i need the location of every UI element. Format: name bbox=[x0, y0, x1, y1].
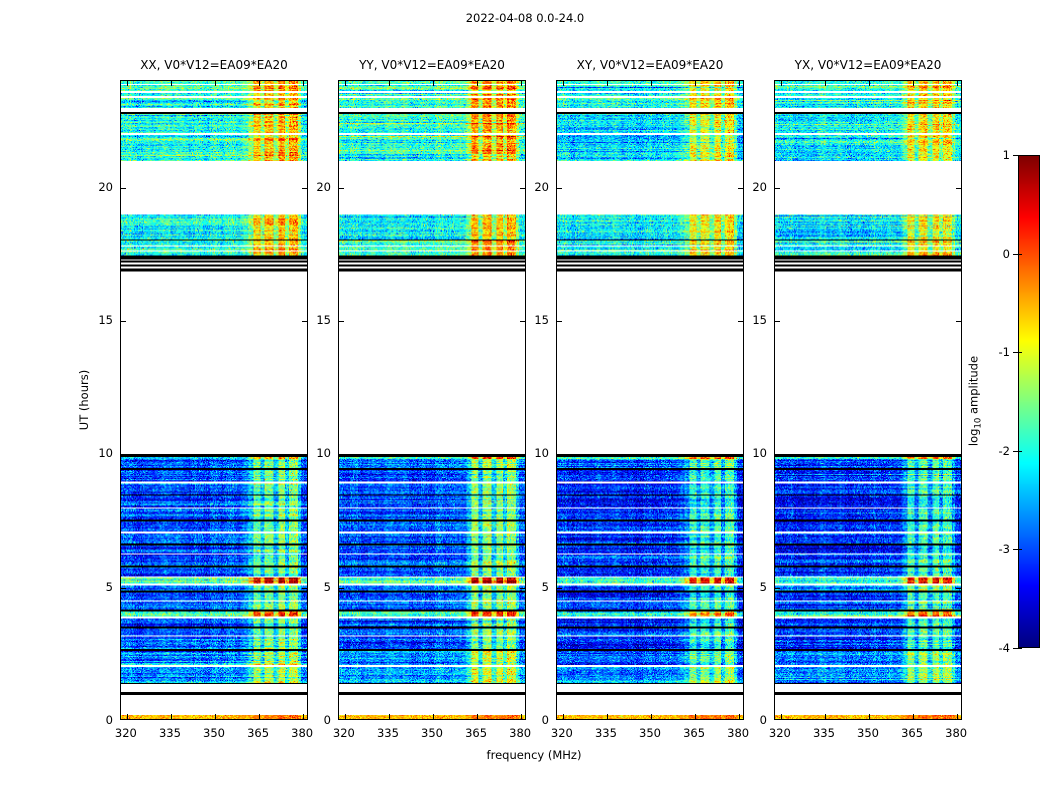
x-tick bbox=[389, 714, 390, 719]
x-tick-label: 320 bbox=[115, 726, 137, 740]
x-tick-label: 380 bbox=[727, 726, 749, 740]
colorbar-tick-inner bbox=[1018, 451, 1022, 452]
image-layer bbox=[775, 81, 961, 719]
y-tick bbox=[339, 588, 344, 589]
x-tick-top bbox=[913, 81, 914, 86]
x-tick-top bbox=[869, 81, 870, 86]
x-tick-top bbox=[651, 81, 652, 86]
image-layer bbox=[121, 81, 307, 719]
panel-title: YX, V0*V12=EA09*EA20 bbox=[734, 58, 1002, 72]
y-tick-label: 5 bbox=[760, 580, 767, 594]
y-tick-right bbox=[520, 321, 525, 322]
x-tick bbox=[215, 714, 216, 719]
x-tick-top bbox=[781, 81, 782, 86]
x-tick bbox=[345, 714, 346, 719]
spectrogram-panel-yx: YX, V0*V12=EA09*EA2005101520320335350365… bbox=[774, 80, 962, 720]
y-tick-label: 20 bbox=[98, 180, 113, 194]
x-tick-label: 365 bbox=[247, 726, 269, 740]
y-tick-right bbox=[302, 321, 307, 322]
spectrogram-image bbox=[121, 81, 307, 719]
x-tick-label: 380 bbox=[945, 726, 967, 740]
x-tick bbox=[913, 714, 914, 719]
y-tick-label: 10 bbox=[752, 446, 767, 460]
y-tick-label: 20 bbox=[316, 180, 331, 194]
colorbar-tick-inner bbox=[1018, 549, 1022, 550]
figure-title: 2022-04-08 0.0-24.0 bbox=[0, 11, 1050, 25]
y-tick-label: 0 bbox=[542, 713, 549, 727]
x-tick-top bbox=[303, 81, 304, 86]
x-tick-top bbox=[259, 81, 260, 86]
x-tick bbox=[869, 714, 870, 719]
x-tick bbox=[477, 714, 478, 719]
x-tick-label: 320 bbox=[769, 726, 791, 740]
x-tick bbox=[127, 714, 128, 719]
y-tick-label: 10 bbox=[98, 446, 113, 460]
x-tick-label: 380 bbox=[291, 726, 313, 740]
x-tick bbox=[607, 714, 608, 719]
x-tick-top bbox=[127, 81, 128, 86]
y-tick-label: 5 bbox=[324, 580, 331, 594]
y-tick bbox=[121, 454, 126, 455]
y-tick-right bbox=[738, 321, 743, 322]
x-tick-top bbox=[695, 81, 696, 86]
y-tick bbox=[339, 188, 344, 189]
colorbar-tick-inner bbox=[1018, 155, 1022, 156]
x-tick-top bbox=[215, 81, 216, 86]
y-tick-label: 20 bbox=[534, 180, 549, 194]
x-tick-label: 380 bbox=[509, 726, 531, 740]
y-tick bbox=[775, 321, 780, 322]
x-tick bbox=[563, 714, 564, 719]
x-tick bbox=[259, 714, 260, 719]
plot-area bbox=[556, 80, 744, 720]
y-tick-label: 15 bbox=[534, 313, 549, 327]
x-tick-top bbox=[607, 81, 608, 86]
y-tick bbox=[557, 321, 562, 322]
plot-area bbox=[338, 80, 526, 720]
y-tick-right bbox=[956, 188, 961, 189]
y-tick bbox=[775, 588, 780, 589]
colorbar-tick-label: 0 bbox=[1003, 247, 1010, 261]
x-tick-label: 335 bbox=[377, 726, 399, 740]
x-tick bbox=[171, 714, 172, 719]
colorbar-tick-inner bbox=[1018, 254, 1022, 255]
x-tick bbox=[825, 714, 826, 719]
x-tick-label: 350 bbox=[203, 726, 225, 740]
plot-area bbox=[120, 80, 308, 720]
colorbar-tick-label: -3 bbox=[999, 542, 1010, 556]
y-tick-right bbox=[738, 588, 743, 589]
colorbar-tick-inner bbox=[1018, 352, 1022, 353]
x-tick-label: 335 bbox=[595, 726, 617, 740]
x-tick-label: 365 bbox=[901, 726, 923, 740]
x-tick-top bbox=[171, 81, 172, 86]
y-tick-label: 15 bbox=[98, 313, 113, 327]
colorbar-canvas bbox=[1019, 156, 1039, 647]
colorbar-tick-label: -1 bbox=[999, 345, 1010, 359]
spectrogram-image bbox=[557, 81, 743, 719]
plot-area bbox=[774, 80, 962, 720]
x-tick-label: 350 bbox=[639, 726, 661, 740]
y-tick-label: 10 bbox=[534, 446, 549, 460]
y-tick-right bbox=[738, 454, 743, 455]
x-tick-label: 320 bbox=[551, 726, 573, 740]
y-tick-label: 15 bbox=[316, 313, 331, 327]
y-tick bbox=[775, 454, 780, 455]
spectrogram-image bbox=[339, 81, 525, 719]
x-tick-top bbox=[521, 81, 522, 86]
y-tick-right bbox=[520, 188, 525, 189]
y-tick bbox=[339, 454, 344, 455]
y-tick-label: 0 bbox=[324, 713, 331, 727]
y-tick-right bbox=[738, 188, 743, 189]
y-tick-right bbox=[956, 321, 961, 322]
x-tick-label: 335 bbox=[159, 726, 181, 740]
spectrogram-panel-xx: XX, V0*V12=EA09*EA2005101520320335350365… bbox=[120, 80, 308, 720]
y-axis-label: UT (hours) bbox=[77, 370, 91, 430]
x-tick bbox=[739, 714, 740, 719]
x-tick bbox=[695, 714, 696, 719]
colorbar-tick-label: -2 bbox=[999, 444, 1010, 458]
x-tick bbox=[433, 714, 434, 719]
image-layer bbox=[339, 81, 525, 719]
spectrogram-panel-yy: YY, V0*V12=EA09*EA2005101520320335350365… bbox=[338, 80, 526, 720]
x-tick-top bbox=[825, 81, 826, 86]
x-tick-label: 335 bbox=[813, 726, 835, 740]
y-tick bbox=[557, 454, 562, 455]
x-tick bbox=[521, 714, 522, 719]
colorbar-tick-label: -4 bbox=[999, 641, 1010, 655]
x-tick-label: 320 bbox=[333, 726, 355, 740]
x-tick-top bbox=[957, 81, 958, 86]
y-tick bbox=[121, 188, 126, 189]
y-tick-right bbox=[520, 454, 525, 455]
y-tick bbox=[557, 588, 562, 589]
y-tick-right bbox=[956, 588, 961, 589]
figure-canvas: 2022-04-08 0.0-24.0 XX, V0*V12=EA09*EA20… bbox=[0, 0, 1050, 800]
x-tick-top bbox=[433, 81, 434, 86]
y-tick bbox=[775, 188, 780, 189]
y-tick bbox=[339, 321, 344, 322]
y-tick-label: 5 bbox=[106, 580, 113, 594]
y-tick-label: 10 bbox=[316, 446, 331, 460]
y-tick-label: 20 bbox=[752, 180, 767, 194]
y-tick-label: 0 bbox=[760, 713, 767, 727]
x-tick-label: 365 bbox=[683, 726, 705, 740]
y-tick-label: 15 bbox=[752, 313, 767, 327]
spectrogram-image bbox=[775, 81, 961, 719]
y-tick bbox=[121, 588, 126, 589]
y-tick-right bbox=[302, 188, 307, 189]
x-axis-label: frequency (MHz) bbox=[487, 748, 582, 762]
x-tick-top bbox=[345, 81, 346, 86]
y-tick bbox=[121, 321, 126, 322]
x-tick bbox=[303, 714, 304, 719]
y-tick-label: 0 bbox=[106, 713, 113, 727]
colorbar-tick-inner bbox=[1018, 648, 1022, 649]
x-tick bbox=[781, 714, 782, 719]
colorbar-tick-label: 1 bbox=[1003, 148, 1010, 162]
colorbar-axis-label: log10 amplitude bbox=[966, 356, 983, 446]
x-tick-top bbox=[739, 81, 740, 86]
x-tick-label: 365 bbox=[465, 726, 487, 740]
y-tick-right bbox=[302, 454, 307, 455]
x-tick bbox=[651, 714, 652, 719]
colorbar: 10-1-2-3-4 bbox=[1018, 155, 1040, 648]
x-tick-label: 350 bbox=[857, 726, 879, 740]
y-tick bbox=[557, 188, 562, 189]
y-tick-right bbox=[302, 588, 307, 589]
x-tick-top bbox=[477, 81, 478, 86]
y-tick-label: 5 bbox=[542, 580, 549, 594]
image-layer bbox=[557, 81, 743, 719]
y-tick-right bbox=[520, 588, 525, 589]
colorbar-gradient bbox=[1018, 155, 1040, 648]
x-tick-top bbox=[563, 81, 564, 86]
spectrogram-panel-xy: XY, V0*V12=EA09*EA2005101520320335350365… bbox=[556, 80, 744, 720]
x-tick-top bbox=[389, 81, 390, 86]
x-tick bbox=[957, 714, 958, 719]
y-tick-right bbox=[956, 454, 961, 455]
x-tick-label: 350 bbox=[421, 726, 443, 740]
